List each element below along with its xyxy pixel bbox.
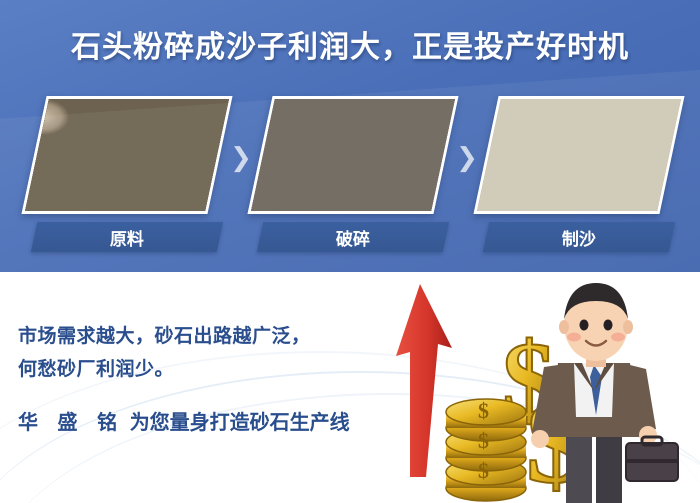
process-step-label-3-text: 制沙 [562,225,596,250]
brand-tagline-text: 为您量身打造砂石生产线 [130,412,350,434]
businessman-with-briefcase-icon [500,272,690,503]
svg-text:$: $ [478,398,489,423]
process-step-label-1-text: 原料 [110,225,144,250]
process-step-image-2 [247,96,458,214]
process-step-image-1 [21,96,232,214]
chevron-right-icon: ❯ [226,144,256,170]
page-title: 石头粉碎成沙子利润大，正是投产好时机 [0,22,700,66]
process-step-label-3: 制沙 [483,222,675,252]
process-step-label-2: 破碎 [257,222,449,252]
svg-text:$: $ [478,458,489,483]
marketing-copy: 市场需求越大，砂石出路越广泛， 何愁砂厂利润少。 华 盛 铭 为您量身打造砂石生… [18,320,368,435]
top-blue-panel: 石头粉碎成沙子利润大，正是投产好时机 原料 ❯ 破碎 ❯ [0,0,700,272]
brand-tagline: 华 盛 铭 为您量身打造砂石生产线 [18,406,368,435]
process-step-label-1: 原料 [31,222,223,252]
manufactured-sand-photo [473,96,684,214]
bottom-content-area: 市场需求越大，砂石出路越广泛， 何愁砂厂利润少。 华 盛 铭 为您量身打造砂石生… [0,272,700,503]
copy-line-2: 何愁砂厂利润少。 [18,353,368,386]
process-steps: 原料 ❯ 破碎 ❯ 制沙 [34,96,674,261]
chevron-right-icon-2: ❯ [452,144,482,170]
process-step-image-3 [473,96,684,214]
svg-text:$: $ [478,428,489,453]
copy-line-1: 市场需求越大，砂石出路越广泛， [18,320,368,353]
promotional-banner: 石头粉碎成沙子利润大，正是投产好时机 原料 ❯ 破碎 ❯ [0,0,700,503]
brand-name: 华 盛 铭 [18,412,124,434]
river-pebbles-photo [21,96,232,214]
crushed-gravel-photo [247,96,458,214]
process-step-label-2-text: 破碎 [336,225,370,250]
